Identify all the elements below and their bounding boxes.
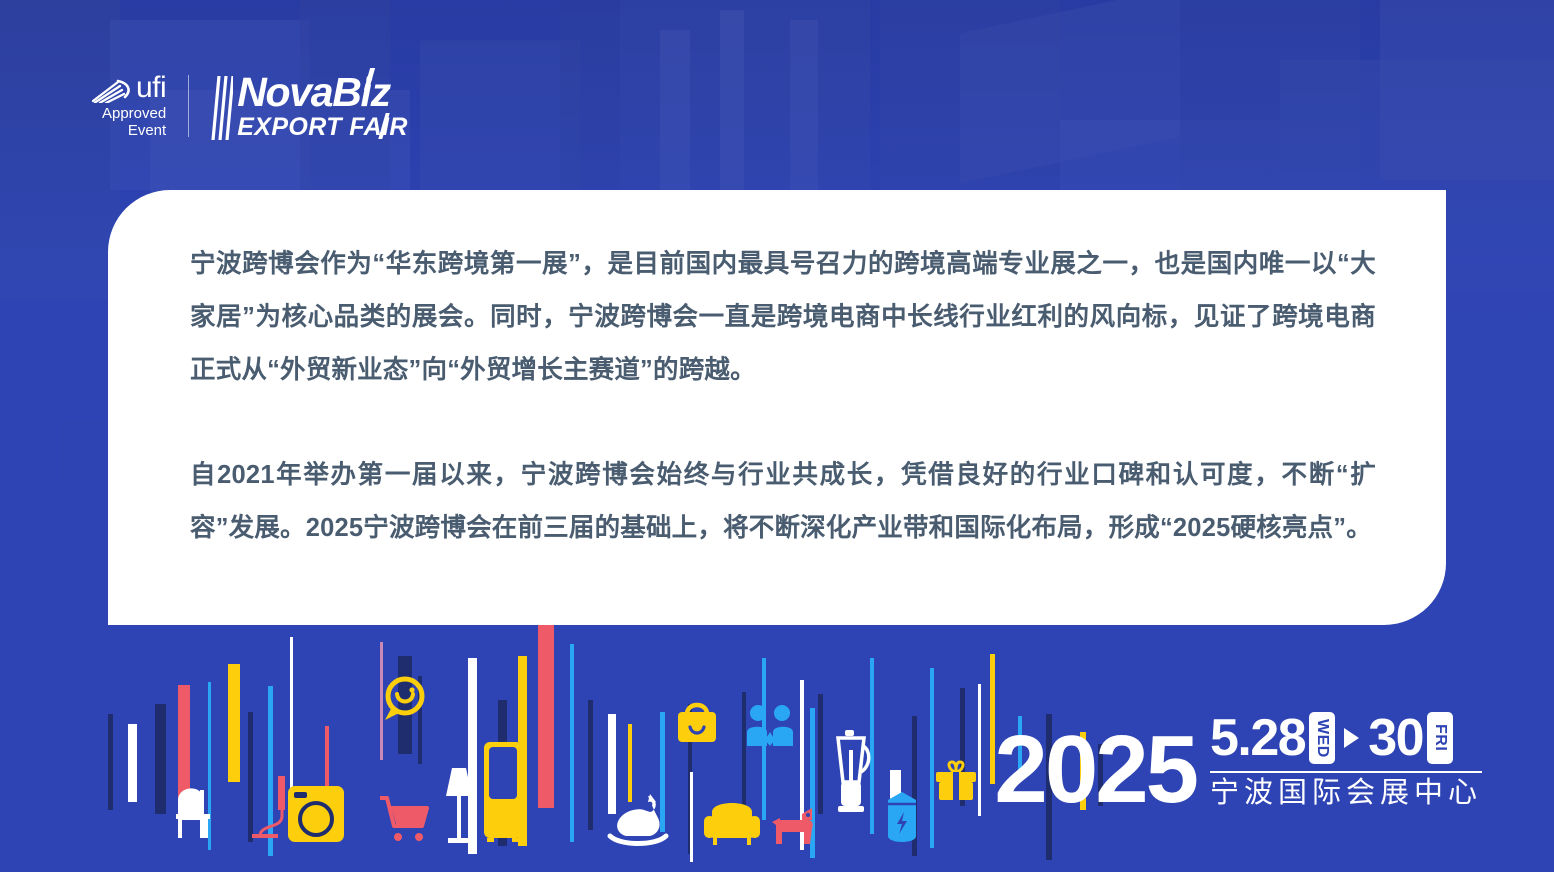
chat-bubble-smile-icon	[378, 676, 428, 724]
accent-bar	[690, 772, 693, 862]
accent-bar	[228, 664, 240, 782]
accent-bar	[818, 694, 823, 814]
logo-divider	[188, 75, 189, 137]
year-label: 2025	[994, 731, 1196, 810]
ufi-swoosh-icon	[92, 77, 134, 103]
ufi-approved-text: Approved Event	[102, 106, 166, 140]
start-date: 5.28	[1210, 712, 1305, 764]
accent-bar	[155, 704, 166, 814]
accent-bar	[570, 644, 574, 842]
date-range-row: 5.28 WED 30 FRI	[1210, 712, 1482, 764]
date-details: 5.28 WED 30 FRI 宁波国际会展中心	[1210, 712, 1482, 810]
washing-machine-icon	[288, 786, 344, 842]
start-day-label: WED	[1314, 719, 1330, 758]
dog-icon	[768, 804, 816, 846]
card-paragraph-1: 宁波跨博会作为“华东跨境第一展”，是目前国内最具号召力的跨境高端专业展之一，也是…	[190, 238, 1376, 397]
rocking-horse-icon	[604, 792, 670, 846]
accent-bar	[538, 616, 554, 808]
ufi-logo: ufi Approved Event	[92, 73, 166, 140]
end-day-label: FRI	[1432, 724, 1448, 751]
venue-divider	[1210, 771, 1482, 773]
novabiz-wordmark: NovaBiz	[211, 72, 408, 113]
accent-bar	[108, 714, 113, 810]
floor-lamp-icon	[440, 766, 478, 844]
accent-bar	[930, 668, 934, 848]
card-paragraph-2: 自2021年举办第一届以来，宁波跨博会始终与行业共成长，凭借良好的行业口碑和认可…	[190, 449, 1376, 555]
handshake-people-icon	[746, 704, 794, 748]
venue-label: 宁波国际会展中心	[1210, 778, 1482, 810]
header-logos: ufi Approved Event NovaBiz EXPORT FAIR	[92, 72, 408, 140]
content-card: 宁波跨博会作为“华东跨境第一展”，是目前国内最具号召力的跨境高端专业展之一，也是…	[108, 190, 1446, 625]
start-day-pill: WED	[1309, 712, 1335, 764]
armchair-icon	[704, 798, 760, 846]
date-block: 2025 5.28 WED 30 FRI 宁波国际会展中心	[994, 712, 1482, 810]
handbag-icon	[676, 698, 718, 744]
gift-box-icon	[934, 760, 978, 802]
ufi-logo-top: ufi	[92, 73, 166, 103]
ufi-approved-line1: Approved	[102, 106, 166, 123]
poster-root: ufi Approved Event NovaBiz EXPORT FAIR	[0, 0, 1554, 872]
ufi-wordmark: ufi	[136, 73, 166, 103]
refrigerator-icon	[484, 742, 522, 842]
end-date: 30	[1368, 712, 1423, 764]
blender-icon	[830, 730, 872, 816]
chair-icon	[172, 780, 218, 838]
power-bank-icon	[886, 792, 918, 848]
accent-bar	[128, 724, 137, 802]
novabiz-logo: NovaBiz EXPORT FAIR	[211, 72, 408, 140]
arrow-right-icon	[1344, 728, 1359, 748]
accent-bar	[588, 700, 593, 830]
shopping-cart-icon	[378, 796, 430, 844]
novabiz-subtitle: EXPORT FAIR	[211, 115, 408, 140]
accent-bar	[628, 724, 632, 802]
ufi-approved-line2: Event	[102, 123, 166, 140]
accent-bar	[978, 684, 981, 816]
end-day-pill: FRI	[1427, 712, 1453, 764]
